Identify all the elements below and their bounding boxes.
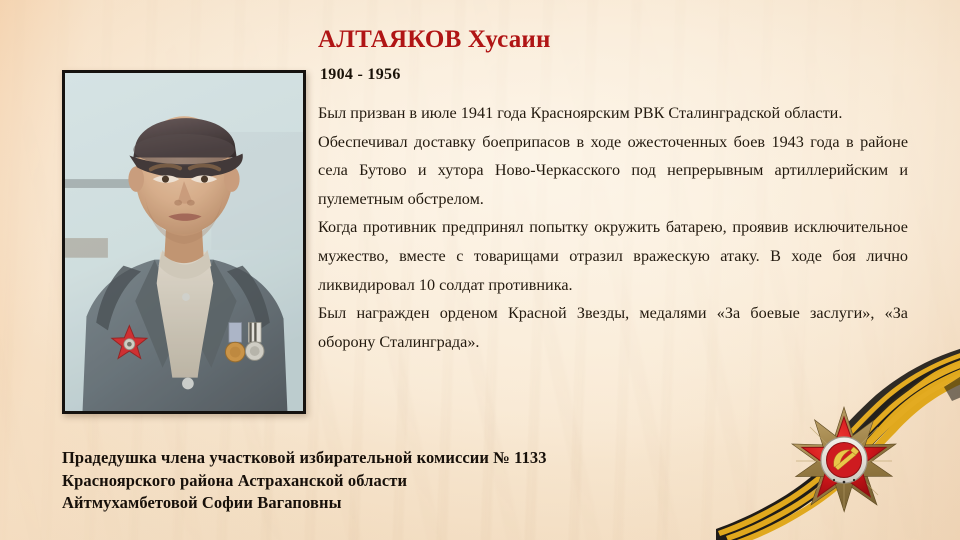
veteran-name-heading: АЛТАЯКОВ Хусаин: [318, 26, 551, 54]
memorial-slide: АЛТАЯКОВ Хусаин 1904 - 1956 Был призван …: [0, 0, 960, 540]
credit-line: Айтмухамбетовой Софии Вагаповны: [62, 492, 547, 515]
credit-line: Прадедушка члена участковой избирательно…: [62, 447, 547, 470]
veteran-portrait-photo: [62, 70, 306, 414]
biography-paragraph: Когда противник предпринял попытку окруж…: [318, 213, 908, 299]
biography-paragraph: Был награжден орденом Красной Звезды, ме…: [318, 299, 908, 356]
credit-line: Красноярского района Астраханской област…: [62, 470, 547, 493]
veteran-life-dates: 1904 - 1956: [320, 66, 401, 84]
submitter-credit: Прадедушка члена участковой избирательно…: [62, 447, 547, 515]
biography-paragraph: Обеспечивал доставку боеприпасов в ходе …: [318, 128, 908, 214]
biography-text: Был призван в июле 1941 года Красноярски…: [318, 99, 908, 356]
biography-paragraph: Был призван в июле 1941 года Красноярски…: [318, 99, 908, 128]
